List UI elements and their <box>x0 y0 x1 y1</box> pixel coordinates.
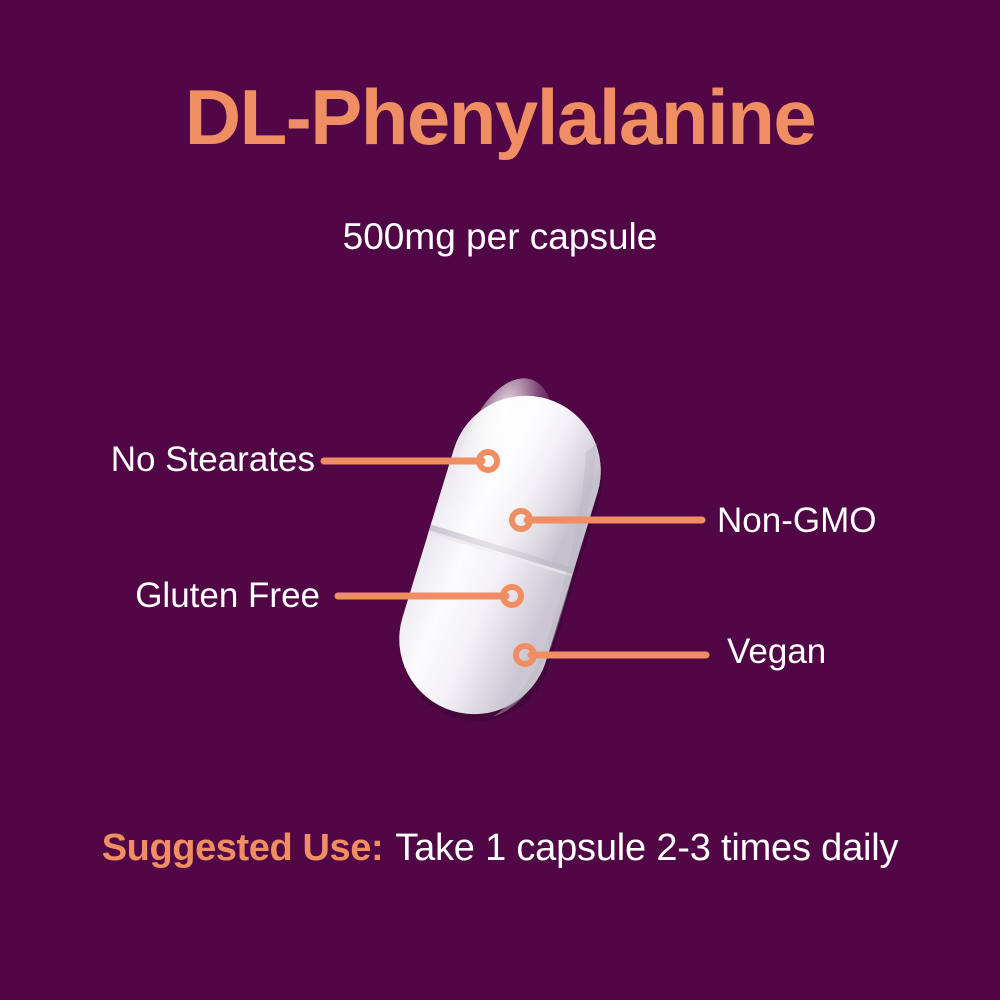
capsule-cap-half <box>429 377 619 574</box>
callout-marker-vegan <box>516 646 534 664</box>
capsule-seam-highlight <box>428 530 572 577</box>
capsule-seam <box>428 524 574 576</box>
callout-label-gluten-free: Gluten Free <box>0 578 320 613</box>
suggested-use-block: Suggested Use:Take 1 capsule 2-3 times d… <box>50 824 950 873</box>
suggested-use-text: Take 1 capsule 2-3 times daily <box>395 827 898 869</box>
callout-marker-no-stearates <box>479 452 497 470</box>
dosage-subtitle: 500mg per capsule <box>0 215 1000 259</box>
callout-label-no-stearates: No Stearates <box>0 442 315 477</box>
callout-line-gluten-free <box>338 587 521 605</box>
capsule-edge-shading <box>492 438 612 728</box>
callout-line-vegan <box>516 646 706 664</box>
capsule-shadow <box>383 384 622 740</box>
capsule-body-half <box>381 377 620 733</box>
callout-line-non-gmo <box>512 511 702 529</box>
callout-label-vegan: Vegan <box>727 634 1000 669</box>
product-info-card: DL-Phenylalanine 500mg per capsule <box>0 0 1000 1000</box>
capsule-gloss <box>433 366 575 569</box>
callout-marker-non-gmo <box>512 511 530 529</box>
suggested-use-heading: Suggested Use: <box>102 827 384 869</box>
callout-label-non-gmo: Non-GMO <box>717 503 1000 538</box>
callout-line-no-stearates <box>324 452 497 470</box>
page-title: DL-Phenylalanine <box>0 78 1000 156</box>
callout-marker-gluten-free <box>503 587 521 605</box>
